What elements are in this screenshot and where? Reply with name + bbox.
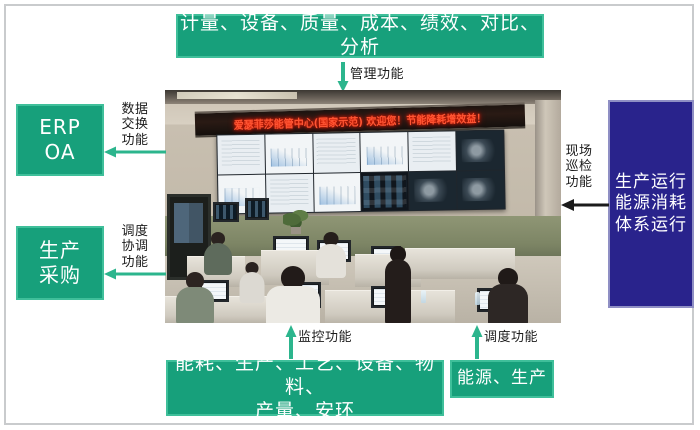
person [315,232,347,276]
arrow-data-exchange [104,145,166,159]
arrow-label-monitoring: 监控功能 [298,330,352,345]
photo-ceiling [165,90,561,104]
person [239,262,265,302]
arrow-management [336,62,350,92]
video-wall-cell [313,133,360,172]
arrow-label-field-inspection: 现场 巡检 功能 [557,144,601,190]
video-wall-cell [409,171,456,210]
arrow-label-dispatch: 调度功能 [484,330,538,345]
video-wall-cell [457,170,504,209]
video-wall-cell [361,132,409,171]
arrow-label-data-exchange: 数据 交换 功能 [113,102,157,148]
person [265,266,321,323]
arrow-dispatch-coordination [104,267,166,281]
water-bottle [421,290,426,303]
monitor [213,202,239,222]
water-bottle [475,292,480,305]
arrow-field-inspection [561,198,609,212]
box-erp-oa: ERP OA [16,104,104,176]
monitor [245,198,269,220]
video-wall-cell [266,173,313,212]
potted-plant [283,208,309,234]
box-management-functions: 计量、设备、质量、成本、绩效、对比、分析 [176,14,544,58]
arrow-label-dispatch-coordination: 调度 协调 功能 [113,224,157,270]
arrow-dispatch [470,325,484,359]
led-banner-text: 爱瑟菲莎能管中心(国家示范) 欢迎您！节能降耗增效益！ [234,108,487,132]
box-energy-production-items: 能耗、生产、工艺、设备、物料、 产量、安环 [166,360,444,416]
person [203,232,233,274]
video-wall-cell [265,134,312,173]
video-wall-cell [217,135,264,174]
person [381,246,415,323]
person [487,268,529,323]
video-wall-cell [314,173,361,212]
person [175,272,215,323]
control-room-photo: 爱瑟菲莎能管中心(国家示范) 欢迎您！节能降耗增效益！ [165,90,561,323]
ceiling-light [177,92,297,99]
video-wall-cell [361,172,409,211]
arrow-monitoring [284,325,298,359]
box-energy-production: 能源、生产 [450,360,554,398]
box-production-purchase: 生产 采购 [16,226,104,300]
video-wall-cell [456,131,503,170]
diagram-canvas: 计量、设备、质量、成本、绩效、对比、分析 管理功能 爱瑟菲莎能管中心(国家示范)… [0,0,700,430]
arrow-label-management: 管理功能 [350,67,404,82]
video-wall-cell [409,131,456,170]
box-production-energy-system: 生产运行 能源消耗 体系运行 [608,100,694,308]
